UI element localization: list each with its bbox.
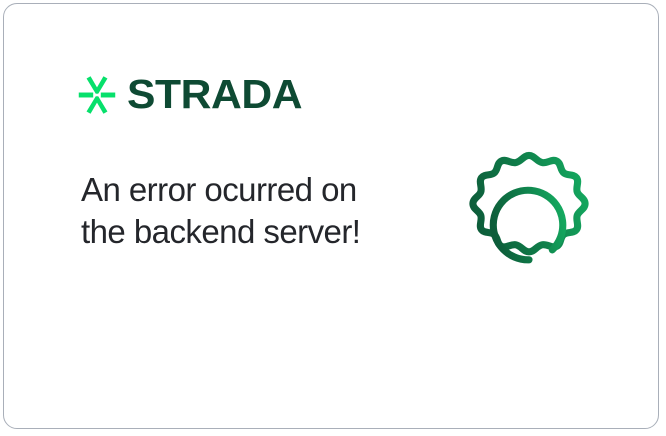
error-card: STRADA An error ocurred on the backend s… [3, 3, 659, 429]
gear-cog-icon [450, 146, 608, 304]
strada-asterisk-icon [78, 76, 116, 114]
brand-wordmark: STRADA [127, 74, 302, 115]
error-headline: An error ocurred on the backend server! [81, 169, 381, 253]
brand-lockup: STRADA [78, 74, 295, 115]
